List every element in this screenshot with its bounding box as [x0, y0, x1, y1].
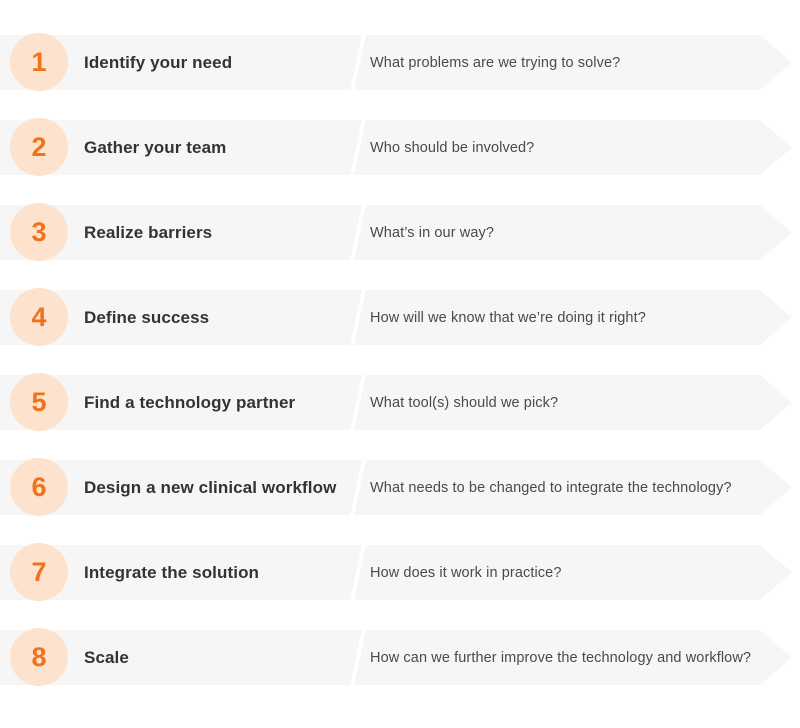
- step-number-badge: 8: [10, 628, 68, 686]
- step-title: Define success: [84, 290, 209, 345]
- step-question: What tool(s) should we pick?: [370, 375, 558, 430]
- step-row: 2Gather your teamWho should be involved?: [0, 120, 800, 175]
- step-number-label: 6: [31, 474, 46, 501]
- step-question: Who should be involved?: [370, 120, 534, 175]
- step-title: Realize barriers: [84, 205, 212, 260]
- step-title: Design a new clinical workflow: [84, 460, 336, 515]
- step-row: 3Realize barriersWhat’s in our way?: [0, 205, 800, 260]
- step-row: 8ScaleHow can we further improve the tec…: [0, 630, 800, 685]
- step-number-label: 2: [31, 134, 46, 161]
- step-question: How will we know that we’re doing it rig…: [370, 290, 646, 345]
- step-number-label: 1: [31, 49, 46, 76]
- steps-list: 1Identify your needWhat problems are we …: [0, 0, 800, 728]
- step-number-badge: 5: [10, 373, 68, 431]
- step-question: How can we further improve the technolog…: [370, 630, 751, 685]
- step-question: What’s in our way?: [370, 205, 494, 260]
- step-row: 4Define successHow will we know that we’…: [0, 290, 800, 345]
- step-row: 5Find a technology partnerWhat tool(s) s…: [0, 375, 800, 430]
- step-title: Identify your need: [84, 35, 232, 90]
- step-number-label: 3: [31, 219, 46, 246]
- step-question: What needs to be changed to integrate th…: [370, 460, 732, 515]
- step-title: Integrate the solution: [84, 545, 259, 600]
- step-title: Gather your team: [84, 120, 226, 175]
- step-title: Find a technology partner: [84, 375, 295, 430]
- step-number-badge: 1: [10, 33, 68, 91]
- step-number-label: 4: [31, 304, 46, 331]
- step-number-label: 7: [31, 559, 46, 586]
- step-number-badge: 3: [10, 203, 68, 261]
- step-number-badge: 4: [10, 288, 68, 346]
- step-number-label: 5: [31, 389, 46, 416]
- step-title: Scale: [84, 630, 129, 685]
- step-question: What problems are we trying to solve?: [370, 35, 620, 90]
- step-row: 6Design a new clinical workflowWhat need…: [0, 460, 800, 515]
- step-number-label: 8: [31, 644, 46, 671]
- step-row: 7Integrate the solutionHow does it work …: [0, 545, 800, 600]
- step-number-badge: 2: [10, 118, 68, 176]
- step-question: How does it work in practice?: [370, 545, 561, 600]
- step-row: 1Identify your needWhat problems are we …: [0, 35, 800, 90]
- step-number-badge: 6: [10, 458, 68, 516]
- step-number-badge: 7: [10, 543, 68, 601]
